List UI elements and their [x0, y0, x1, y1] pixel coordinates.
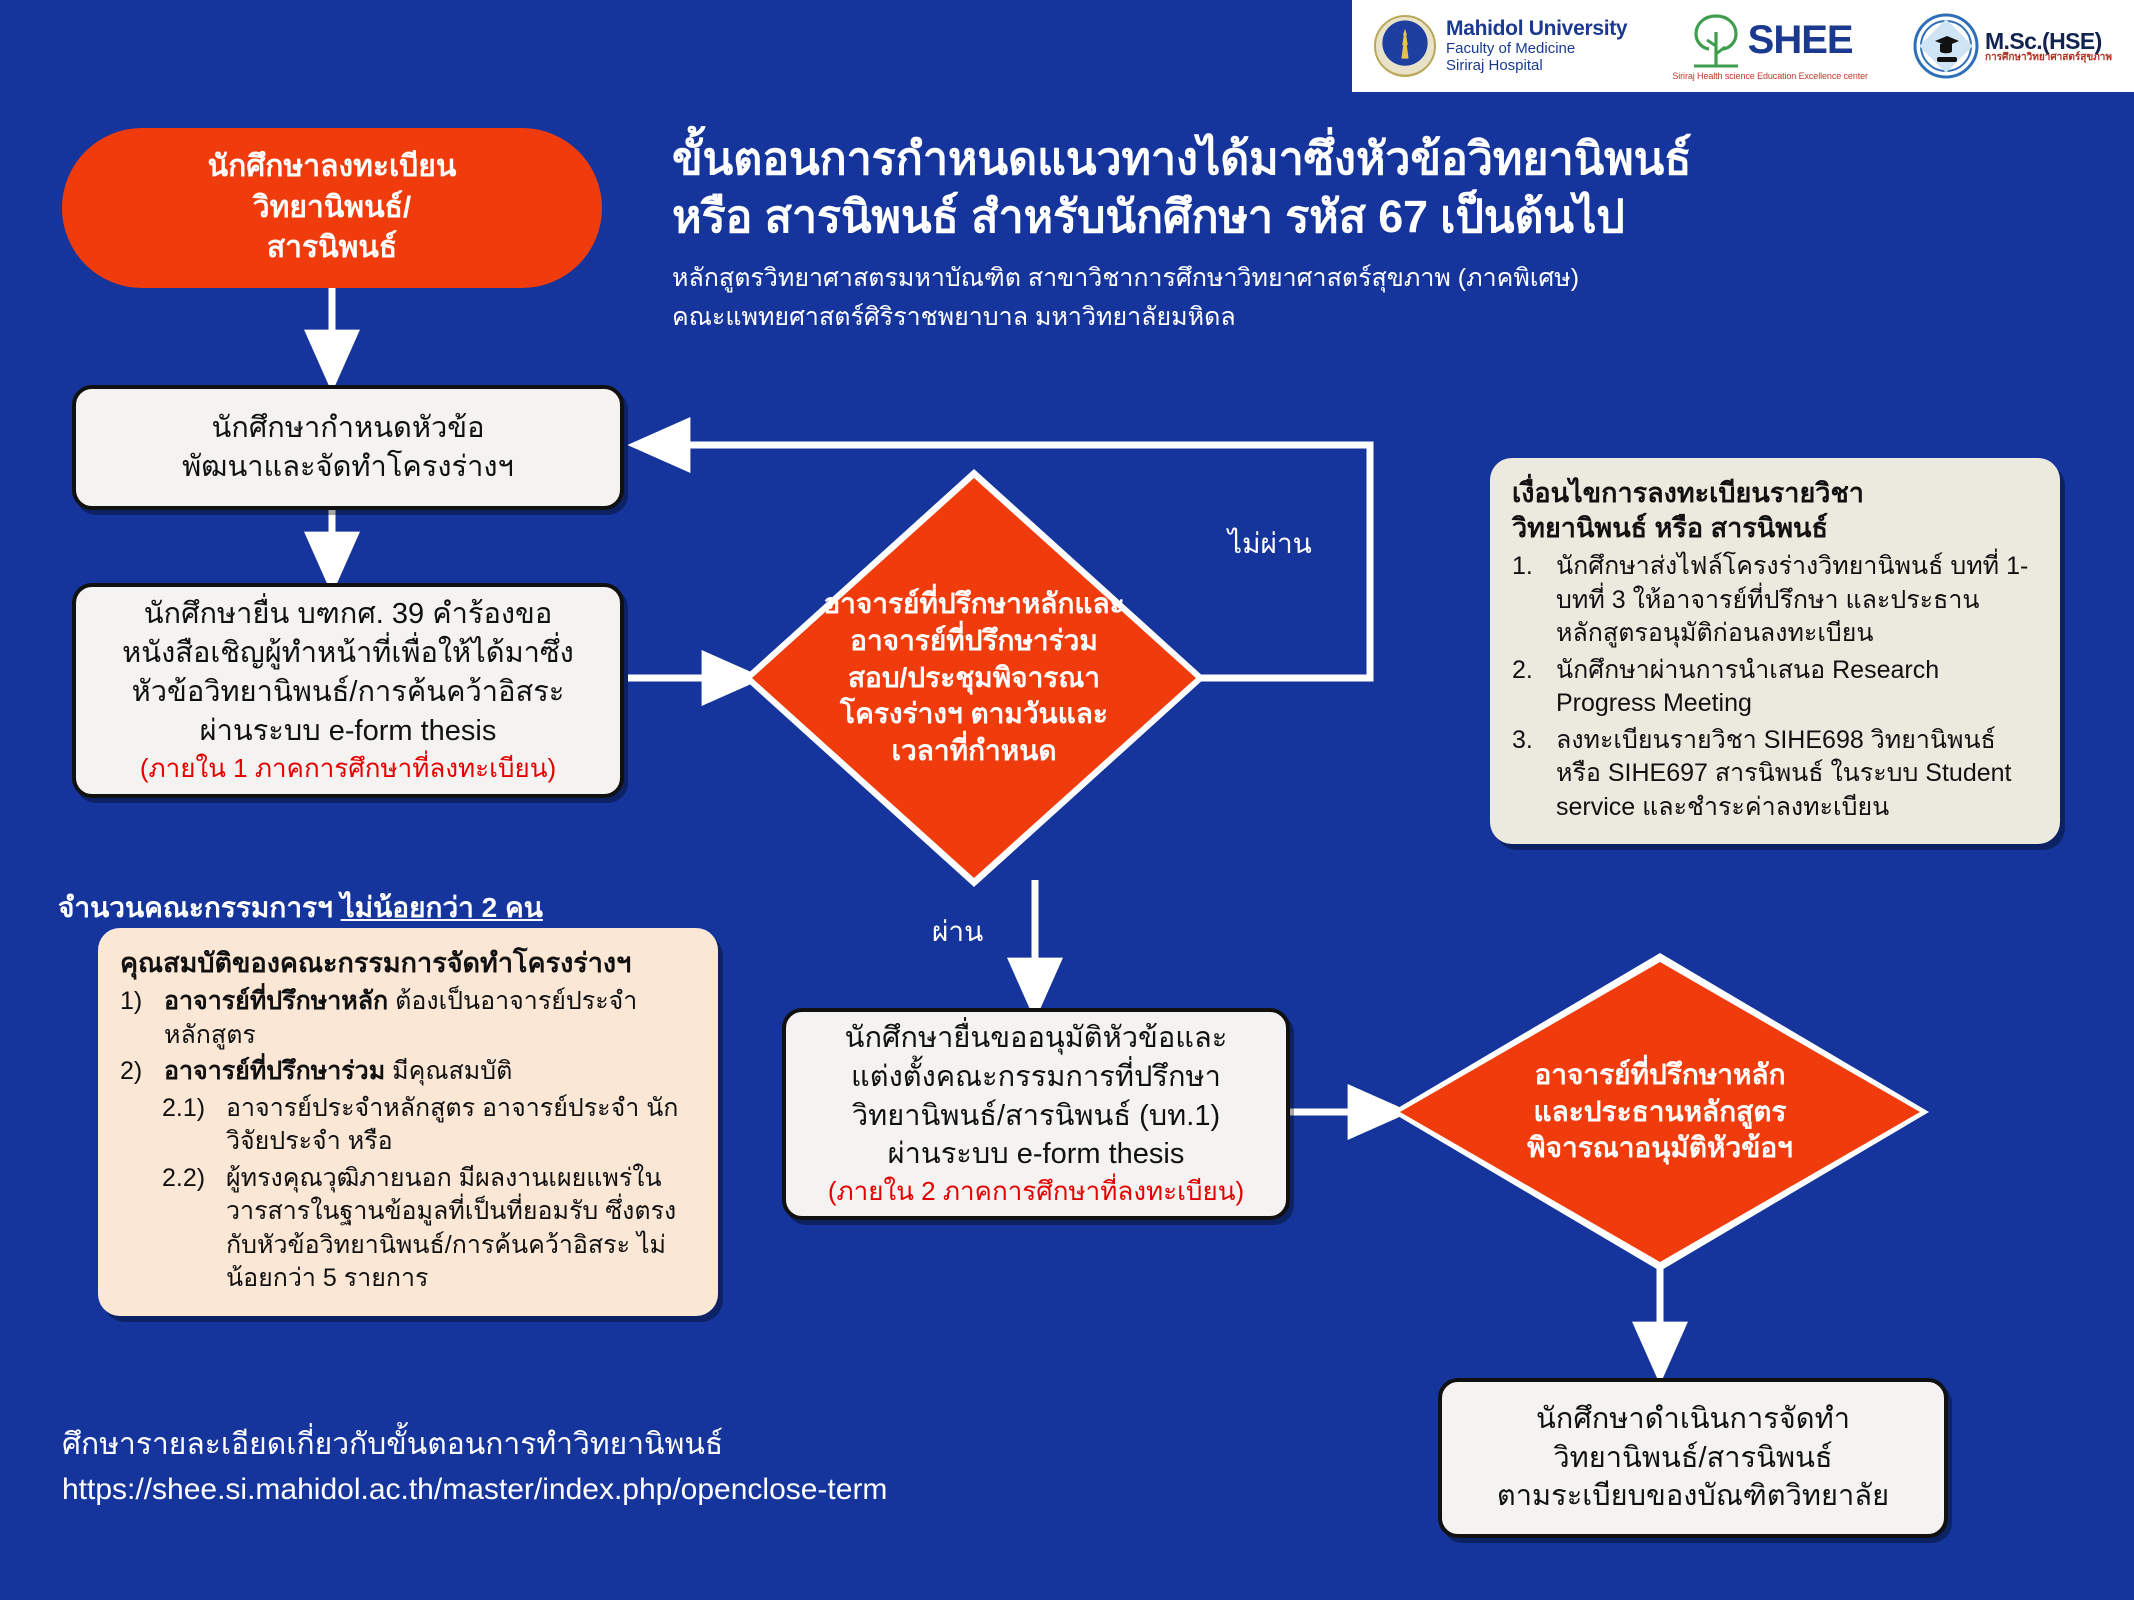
node-step3-line-2: แต่งตั้งคณะกรรมการที่ปรึกษา — [851, 1061, 1221, 1093]
node-define-topic[interactable]: นักศึกษากำหนดหัวข้อ พัฒนาและจัดทำโครงร่า… — [72, 385, 624, 510]
node-step1-line-2: พัฒนาและจัดทำโครงร่างฯ — [182, 451, 514, 483]
committee-count-note: จำนวนคณะกรรมการฯ ไม่น้อยกว่า 2 คน — [58, 886, 543, 930]
qualify-sub-1-text: อาจารย์ประจำหลักสูตร อาจารย์ประจำ นักวิจ… — [226, 1092, 696, 1159]
node-step2-line-4: ผ่านระบบ e-form thesis — [200, 715, 497, 747]
node-decision-proposal-exam[interactable]: อาจารย์ที่ปรึกษาหลักและ อาจารย์ที่ปรึกษา… — [752, 478, 1196, 878]
list-item: 1. นักศึกษาส่งไฟล์โครงร่างวิทยานิพนธ์ บท… — [1512, 550, 2038, 651]
node-request-topic-approval[interactable]: นักศึกษายื่นขออนุมัติหัวข้อและ แต่งตั้งค… — [782, 1008, 1290, 1220]
qualify-item-2-bold: อาจารย์ที่ปรึกษาร่วม — [164, 1057, 385, 1085]
footer-note: ศึกษารายละเอียดเกี่ยวกับขั้นตอนการทำวิทย… — [62, 1422, 887, 1467]
list-item: 2) อาจารย์ที่ปรึกษาร่วม มีคุณสมบัติ — [120, 1055, 696, 1089]
msc-hse-logo: M.Sc.(HSE) การศึกษาวิทยาศาสตร์สุขภาพ — [1913, 13, 2112, 79]
qualify-item-2-rest: มีคุณสมบัติ — [385, 1057, 512, 1085]
conditions-item-2-text: นักศึกษาผ่านการนำเสนอ Research Progress … — [1556, 654, 2038, 721]
decision1-line-4: โครงร่างฯ ตามวันและ — [840, 698, 1108, 729]
qualify-sub-2-text: ผู้ทรงคุณวุฒิภายนอก มีผลงานเผยแพร่ในวารส… — [226, 1162, 696, 1296]
tree-icon — [1688, 12, 1744, 70]
list-item: 2. นักศึกษาผ่านการนำเสนอ Research Progre… — [1512, 654, 2038, 721]
conditions-item-1-text: นักศึกษาส่งไฟล์โครงร่างวิทยานิพนธ์ บทที่… — [1556, 550, 2038, 651]
mahidol-logo: Mahidol University Faculty of Medicine S… — [1374, 15, 1627, 77]
title-line-2: หรือ สารนิพนธ์ สำหรับนักศึกษา รหัส 67 เป… — [672, 188, 1992, 246]
conditions-item-1-num: 1. — [1512, 550, 1546, 651]
panel-registration-conditions: เงื่อนไขการลงทะเบียนรายวิชา วิทยานิพนธ์ … — [1490, 458, 2060, 844]
subtitle-line-1: หลักสูตรวิทยาศาสตรมหาบัณฑิต สาขาวิชาการศ… — [672, 259, 1992, 298]
footer-url[interactable]: https://shee.si.mahidol.ac.th/master/ind… — [62, 1467, 887, 1514]
list-item: 1) อาจารย์ที่ปรึกษาหลัก ต้องเป็นอาจารย์ป… — [120, 985, 696, 1052]
title-line-1: ขั้นตอนการกำหนดแนวทางได้มาซึ่งหัวข้อวิทย… — [672, 130, 1992, 188]
qualify-sub-1-num: 2.1) — [162, 1092, 216, 1159]
msc-title: M.Sc.(HSE) — [1985, 29, 2112, 53]
node-step3-deadline-note: (ภายใน 2 ภาคการศึกษาที่ลงทะเบียน) — [828, 1174, 1244, 1209]
decision1-line-3: สอบ/ประชุมพิจารณา — [848, 662, 1100, 693]
list-item: 3. ลงทะเบียนรายวิชา SIHE698 วิทยานิพนธ์ … — [1512, 724, 2038, 825]
node-step3-line-4: ผ่านระบบ e-form thesis — [888, 1138, 1185, 1170]
page-title: ขั้นตอนการกำหนดแนวทางได้มาซึ่งหัวข้อวิทย… — [672, 130, 1992, 337]
logo-strip: Mahidol University Faculty of Medicine S… — [1352, 0, 2134, 92]
qualify-heading: คุณสมบัติของคณะกรรมการจัดทำโครงร่างฯ — [120, 946, 696, 981]
node-start[interactable]: นักศึกษาลงทะเบียน วิทยานิพนธ์/ สารนิพนธ์ — [62, 128, 602, 288]
mahidol-seal-icon — [1374, 15, 1436, 77]
edge-label-fail: ไม่ผ่าน — [1228, 522, 1312, 566]
node-submit-form-39[interactable]: นักศึกษายื่น บฑกศ. 39 คำร้องขอ หนังสือเช… — [72, 583, 624, 798]
node-step3-line-1: นักศึกษายื่นขออนุมัติหัวข้อและ — [845, 1022, 1228, 1054]
committee-note-underlined: ไม่น้อยกว่า 2 คน — [341, 892, 543, 923]
node-start-line-2: วิทยานิพนธ์/ — [253, 191, 411, 224]
node-step3-line-3: วิทยานิพนธ์/สารนิพนธ์ (บท.1) — [852, 1100, 1220, 1132]
conditions-item-3-num: 3. — [1512, 724, 1546, 825]
node-step2-line-1: นักศึกษายื่น บฑกศ. 39 คำร้องขอ — [144, 598, 553, 630]
decision2-line-3: พิจารณาอนุมัติหัวข้อฯ — [1527, 1132, 1793, 1163]
msc-caption: การศึกษาวิทยาศาสตร์สุขภาพ — [1985, 53, 2112, 64]
conditions-heading-1: เงื่อนไขการลงทะเบียนรายวิชา — [1512, 478, 1864, 508]
shee-wordmark: SHEE — [1748, 18, 1853, 63]
conditions-item-2-num: 2. — [1512, 654, 1546, 721]
node-step2-deadline-note: (ภายใน 1 ภาคการศึกษาที่ลงทะเบียน) — [122, 751, 574, 786]
list-item: 2.1) อาจารย์ประจำหลักสูตร อาจารย์ประจำ น… — [120, 1092, 696, 1159]
qualify-item-2-num: 2) — [120, 1055, 154, 1089]
decision1-line-1: อาจารย์ที่ปรึกษาหลักและ — [823, 588, 1124, 619]
conditions-heading-2: วิทยานิพนธ์ หรือ สารนิพนธ์ — [1512, 513, 1828, 543]
shee-logo: SHEE Siriraj Health science Education Ex… — [1672, 12, 1868, 81]
decision2-line-1: อาจารย์ที่ปรึกษาหลัก — [1534, 1059, 1785, 1090]
conditions-item-3-text: ลงทะเบียนรายวิชา SIHE698 วิทยานิพนธ์ หรื… — [1556, 724, 2038, 825]
list-item: 2.2) ผู้ทรงคุณวุฒิภายนอก มีผลงานเผยแพร่ใ… — [120, 1162, 696, 1296]
node-final-line-3: ตามระเบียบของบัณฑิตวิทยาลัย — [1497, 1480, 1889, 1512]
decision1-line-2: อาจารย์ที่ปรึกษาร่วม — [850, 625, 1098, 656]
panel-committee-qualifications: คุณสมบัติของคณะกรรมการจัดทำโครงร่างฯ 1) … — [98, 928, 718, 1316]
edge-label-pass: ผ่าน — [932, 910, 983, 954]
shee-caption: Siriraj Health science Education Excelle… — [1672, 71, 1868, 81]
node-final-line-1: นักศึกษาดำเนินการจัดทำ — [1536, 1403, 1850, 1435]
node-final-conduct-thesis[interactable]: นักศึกษาดำเนินการจัดทำ วิทยานิพนธ์/สารนิ… — [1438, 1378, 1948, 1538]
decision2-line-2: และประธานหลักสูตร — [1534, 1096, 1787, 1127]
node-step2-line-3: หัวข้อวิทยานิพนธ์/การค้นคว้าอิสระ — [132, 676, 565, 708]
node-start-line-1: นักศึกษาลงทะเบียน — [208, 150, 457, 183]
mahidol-faculty: Faculty of Medicine — [1446, 41, 1627, 58]
node-start-line-3: สารนิพนธ์ — [267, 231, 397, 264]
committee-note-prefix: จำนวนคณะกรรมการฯ — [58, 892, 341, 923]
footer: ศึกษารายละเอียดเกี่ยวกับขั้นตอนการทำวิทย… — [62, 1422, 887, 1514]
node-step1-line-1: นักศึกษากำหนดหัวข้อ — [211, 412, 484, 444]
mahidol-hospital: Siriraj Hospital — [1446, 58, 1627, 75]
mahidol-name: Mahidol University — [1446, 17, 1627, 41]
qualify-item-1-num: 1) — [120, 985, 154, 1052]
node-decision-topic-approval[interactable]: อาจารย์ที่ปรึกษาหลัก และประธานหลักสูตร พ… — [1400, 962, 1920, 1262]
subtitle-line-2: คณะแพทยศาสตร์ศิริราชพยาบาล มหาวิทยาลัยมห… — [672, 298, 1992, 337]
node-final-line-2: วิทยานิพนธ์/สารนิพนธ์ — [1553, 1442, 1832, 1474]
node-step2-line-2: หนังสือเชิญผู้ทำหน้าที่เพื่อให้ได้มาซึ่ง — [122, 637, 574, 669]
graduation-cap-badge-icon — [1913, 13, 1979, 79]
qualify-item-1-bold: อาจารย์ที่ปรึกษาหลัก — [164, 987, 388, 1015]
decision1-line-5: เวลาที่กำหนด — [891, 735, 1056, 766]
qualify-sub-2-num: 2.2) — [162, 1162, 216, 1296]
